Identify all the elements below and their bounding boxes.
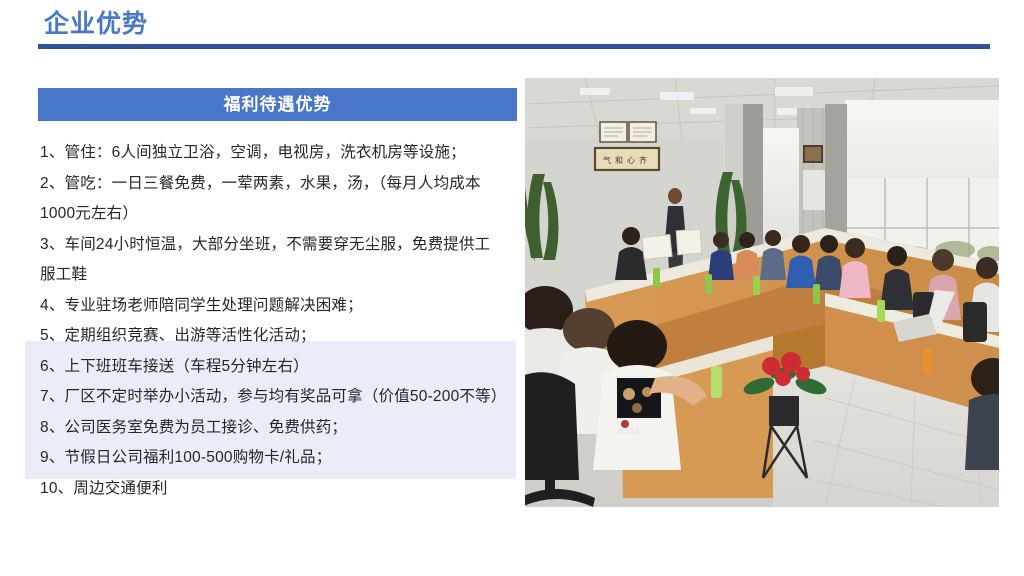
- benefits-header-label: 福利待遇优势: [224, 96, 332, 113]
- list-item: 8、公司医务室免费为员工接诊、免费供药；: [40, 413, 502, 444]
- list-item: 1、管住：6人间独立卫浴，空调，电视房，洗衣机房等设施；: [40, 138, 502, 169]
- svg-text:气: 气: [603, 155, 611, 165]
- benefits-header-bar: 福利待遇优势: [38, 88, 517, 121]
- photo-illustration: 气和 心齐: [525, 78, 999, 507]
- svg-text:和: 和: [615, 156, 623, 165]
- list-item: 7、厂区不定时举办小活动，参与均有奖品可拿（价值50-200不等）: [40, 382, 502, 413]
- benefits-list: 1、管住：6人间独立卫浴，空调，电视房，洗衣机房等设施； 2、管吃：一日三餐免费…: [40, 138, 502, 504]
- svg-text:心: 心: [627, 156, 635, 165]
- meeting-room-photo: 气和 心齐: [525, 78, 999, 507]
- slide-root: 企业优势 福利待遇优势 1、管住：6人间独立卫浴，空调，电视房，洗衣机房等设施；…: [0, 0, 1024, 576]
- list-item: 9、节假日公司福利100-500购物卡/礼品；: [40, 443, 502, 474]
- benefits-panel: 福利待遇优势 1、管住：6人间独立卫浴，空调，电视房，洗衣机房等设施； 2、管吃…: [0, 0, 524, 576]
- list-item: 3、车间24小时恒温，大部分坐班，不需要穿无尘服，免费提供工服工鞋: [40, 230, 502, 291]
- list-item: 2、管吃：一日三餐免费，一荤两素，水果，汤，（每月人均成本1000元左右）: [40, 169, 502, 230]
- list-item: 5、定期组织竞赛、出游等活性化活动；: [40, 321, 502, 352]
- list-item: 10、周边交通便利: [40, 474, 502, 505]
- list-item: 4、专业驻场老师陪同学生处理问题解决困难；: [40, 291, 502, 322]
- list-item: 6、上下班班车接送（车程5分钟左右）: [40, 352, 502, 383]
- svg-text:ASIA: ASIA: [617, 427, 641, 437]
- svg-text:齐: 齐: [639, 155, 647, 165]
